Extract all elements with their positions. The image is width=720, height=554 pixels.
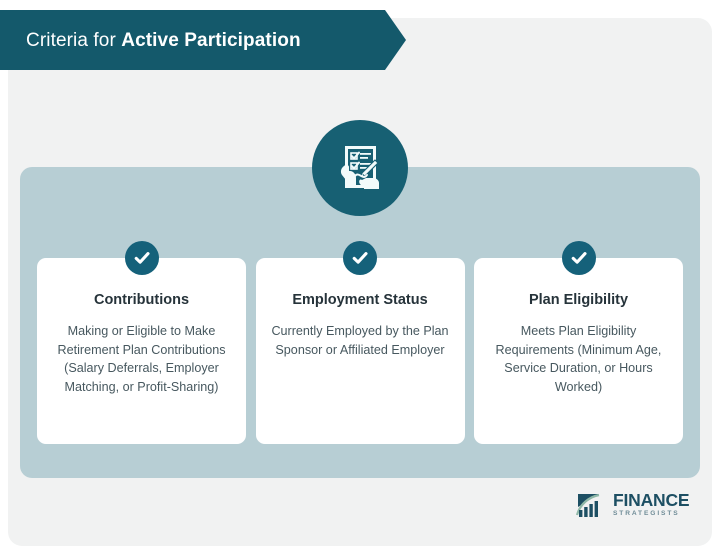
document-signing-icon: [312, 120, 408, 216]
logo-wordmark: FINANCE STRATEGISTS: [613, 492, 689, 517]
criteria-card: Plan Eligibility Meets Plan Eligibility …: [474, 258, 683, 444]
logo-subtitle: STRATEGISTS: [613, 511, 689, 518]
logo-name: FINANCE: [613, 492, 689, 510]
banner-title-plain: Criteria for: [26, 30, 121, 51]
criteria-card: Employment Status Currently Employed by …: [256, 258, 465, 444]
header-banner: Criteria for Active Participation: [0, 10, 406, 70]
card-body: Meets Plan Eligibility Requirements (Min…: [488, 322, 669, 396]
card-title: Plan Eligibility: [488, 292, 669, 309]
card-title: Contributions: [51, 292, 232, 309]
criteria-card: Contributions Making or Eligible to Make…: [37, 258, 246, 444]
check-circle-icon: [343, 241, 377, 275]
card-body: Making or Eligible to Make Retirement Pl…: [51, 322, 232, 396]
banner-title: Criteria for Active Participation: [0, 31, 301, 50]
check-circle-icon: [125, 241, 159, 275]
card-body: Currently Employed by the Plan Sponsor o…: [270, 322, 451, 359]
criteria-cards: Contributions Making or Eligible to Make…: [37, 258, 683, 444]
bar-chart-swoosh-icon: [575, 491, 609, 519]
infographic-root: Criteria for Active Participation: [0, 0, 720, 554]
finance-strategists-logo: FINANCE STRATEGISTS: [575, 488, 691, 522]
check-circle-icon: [562, 241, 596, 275]
card-title: Employment Status: [270, 292, 451, 309]
banner-title-bold: Active Participation: [121, 30, 300, 51]
